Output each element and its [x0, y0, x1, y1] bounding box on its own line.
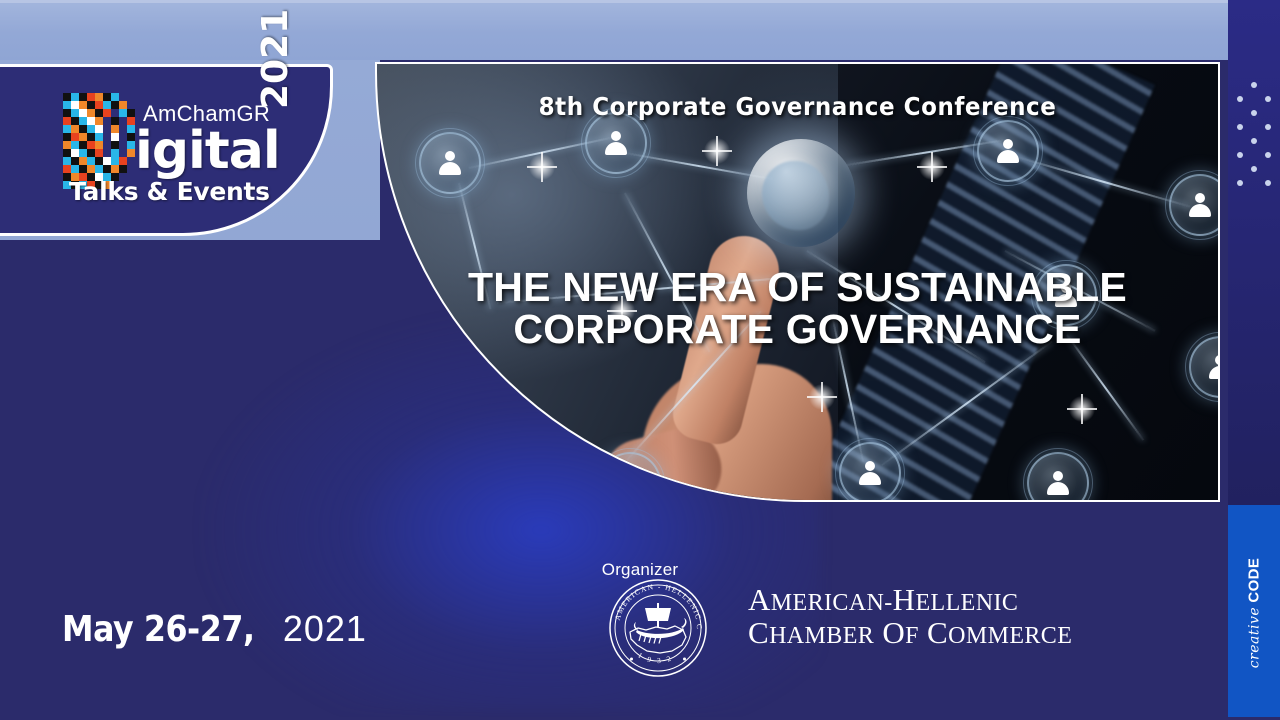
person-icon	[857, 461, 883, 485]
person-icon	[1207, 355, 1220, 379]
hero-title-line-1: THE NEW ERA OF SUSTAINABLE	[377, 267, 1218, 309]
sparkle	[1067, 394, 1097, 424]
person-node	[419, 132, 481, 194]
logo-talks-events-label: Talks & Events	[69, 177, 270, 206]
event-date: May 26-27,2021	[62, 608, 367, 650]
credit-script-word: creative	[1247, 606, 1263, 667]
amcham-seal-icon: AMERICAN - HELLENIC CHAMBER OF COMMERCE …	[608, 578, 708, 678]
right-dot-strip	[1228, 0, 1280, 510]
conference-slide: AmChamGR igital Talks & Events 2021	[0, 0, 1280, 720]
event-date-year: 2021	[283, 608, 367, 650]
person-icon	[603, 131, 629, 155]
logo-inner: AmChamGR igital Talks & Events 2021	[63, 85, 323, 215]
creative-code-strip: creative CODE	[1228, 505, 1280, 720]
hero-title: THE NEW ERA OF SUSTAINABLE CORPORATE GOV…	[377, 267, 1218, 351]
logo-digital-label: igital	[135, 121, 280, 181]
person-node	[1027, 452, 1089, 502]
person-node	[977, 120, 1039, 182]
person-icon	[1187, 193, 1213, 217]
organizer-name: AMERICAN-HELLENIC CHAMBER OF COMMERCE	[748, 584, 1148, 650]
hero-kicker: 8th Corporate Governance Conference	[411, 92, 1185, 121]
sparkle	[807, 382, 837, 412]
person-node	[839, 442, 901, 502]
hero-image-panel: 8th Corporate Governance Conference THE …	[375, 62, 1220, 502]
sparkle	[917, 152, 947, 182]
organizer-label: Organizer	[0, 560, 1280, 580]
sparkle	[702, 136, 732, 166]
person-node	[585, 112, 647, 174]
top-band	[0, 0, 1280, 60]
organizer-block: AMERICAN - HELLENIC CHAMBER OF COMMERCE …	[608, 578, 1138, 683]
person-icon	[437, 151, 463, 175]
logo-year-label: 2021	[255, 9, 296, 109]
hero-title-line-2: CORPORATE GOVERNANCE	[377, 309, 1218, 351]
svg-text:AMERICAN - HELLENIC CHAMBER OF: AMERICAN - HELLENIC CHAMBER OF COMMERCE	[608, 578, 704, 630]
person-icon	[995, 139, 1021, 163]
dot-pattern	[1228, 82, 1280, 192]
network-link	[881, 341, 1052, 466]
top-band-edge	[0, 0, 1280, 3]
glass-globe-icon	[747, 139, 855, 247]
organizer-name-line-1: AMERICAN-HELLENIC	[748, 584, 1148, 617]
person-node	[599, 452, 661, 502]
person-node	[1169, 174, 1220, 236]
amcham-digital-logo-card: AmChamGR igital Talks & Events 2021	[0, 64, 333, 236]
sparkle	[527, 152, 557, 182]
person-icon	[617, 471, 643, 495]
person-icon	[1045, 471, 1071, 495]
event-date-days: May 26-27,	[62, 609, 255, 650]
organizer-name-line-2: CHAMBER OF COMMERCE	[748, 617, 1148, 650]
